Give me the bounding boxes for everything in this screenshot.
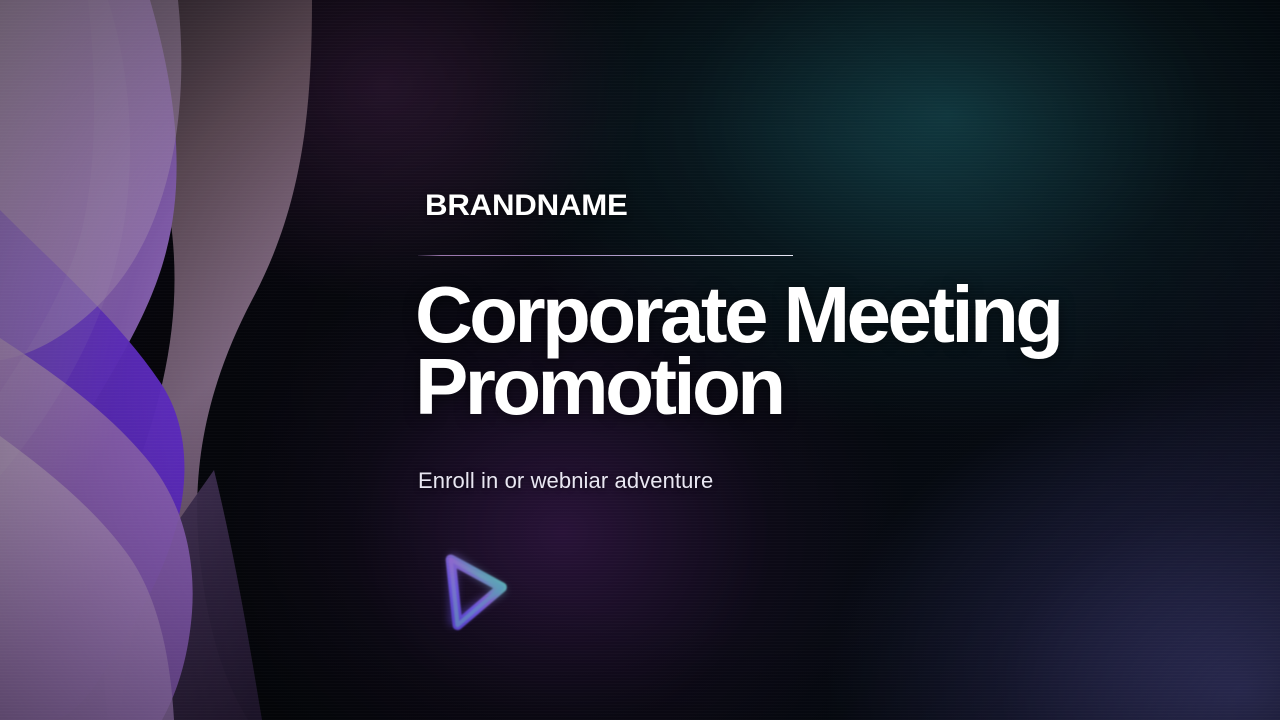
subtitle: Enroll in or webniar adventure bbox=[418, 468, 713, 494]
headline-line-1: Corporate Meeting bbox=[415, 279, 1205, 351]
content-block: BRANDNAME Corporate Meeting Promotion En… bbox=[415, 0, 1215, 720]
page-title: Corporate Meeting Promotion bbox=[415, 279, 1205, 423]
divider-rule bbox=[418, 255, 793, 256]
decorative-wave-artwork bbox=[0, 0, 340, 720]
play-button[interactable] bbox=[431, 544, 521, 636]
headline-line-2: Promotion bbox=[415, 351, 1205, 423]
play-triangle-outline-icon[interactable] bbox=[431, 544, 521, 636]
promo-slide: BRANDNAME Corporate Meeting Promotion En… bbox=[0, 0, 1280, 720]
brand-name: BRANDNAME bbox=[425, 189, 628, 223]
